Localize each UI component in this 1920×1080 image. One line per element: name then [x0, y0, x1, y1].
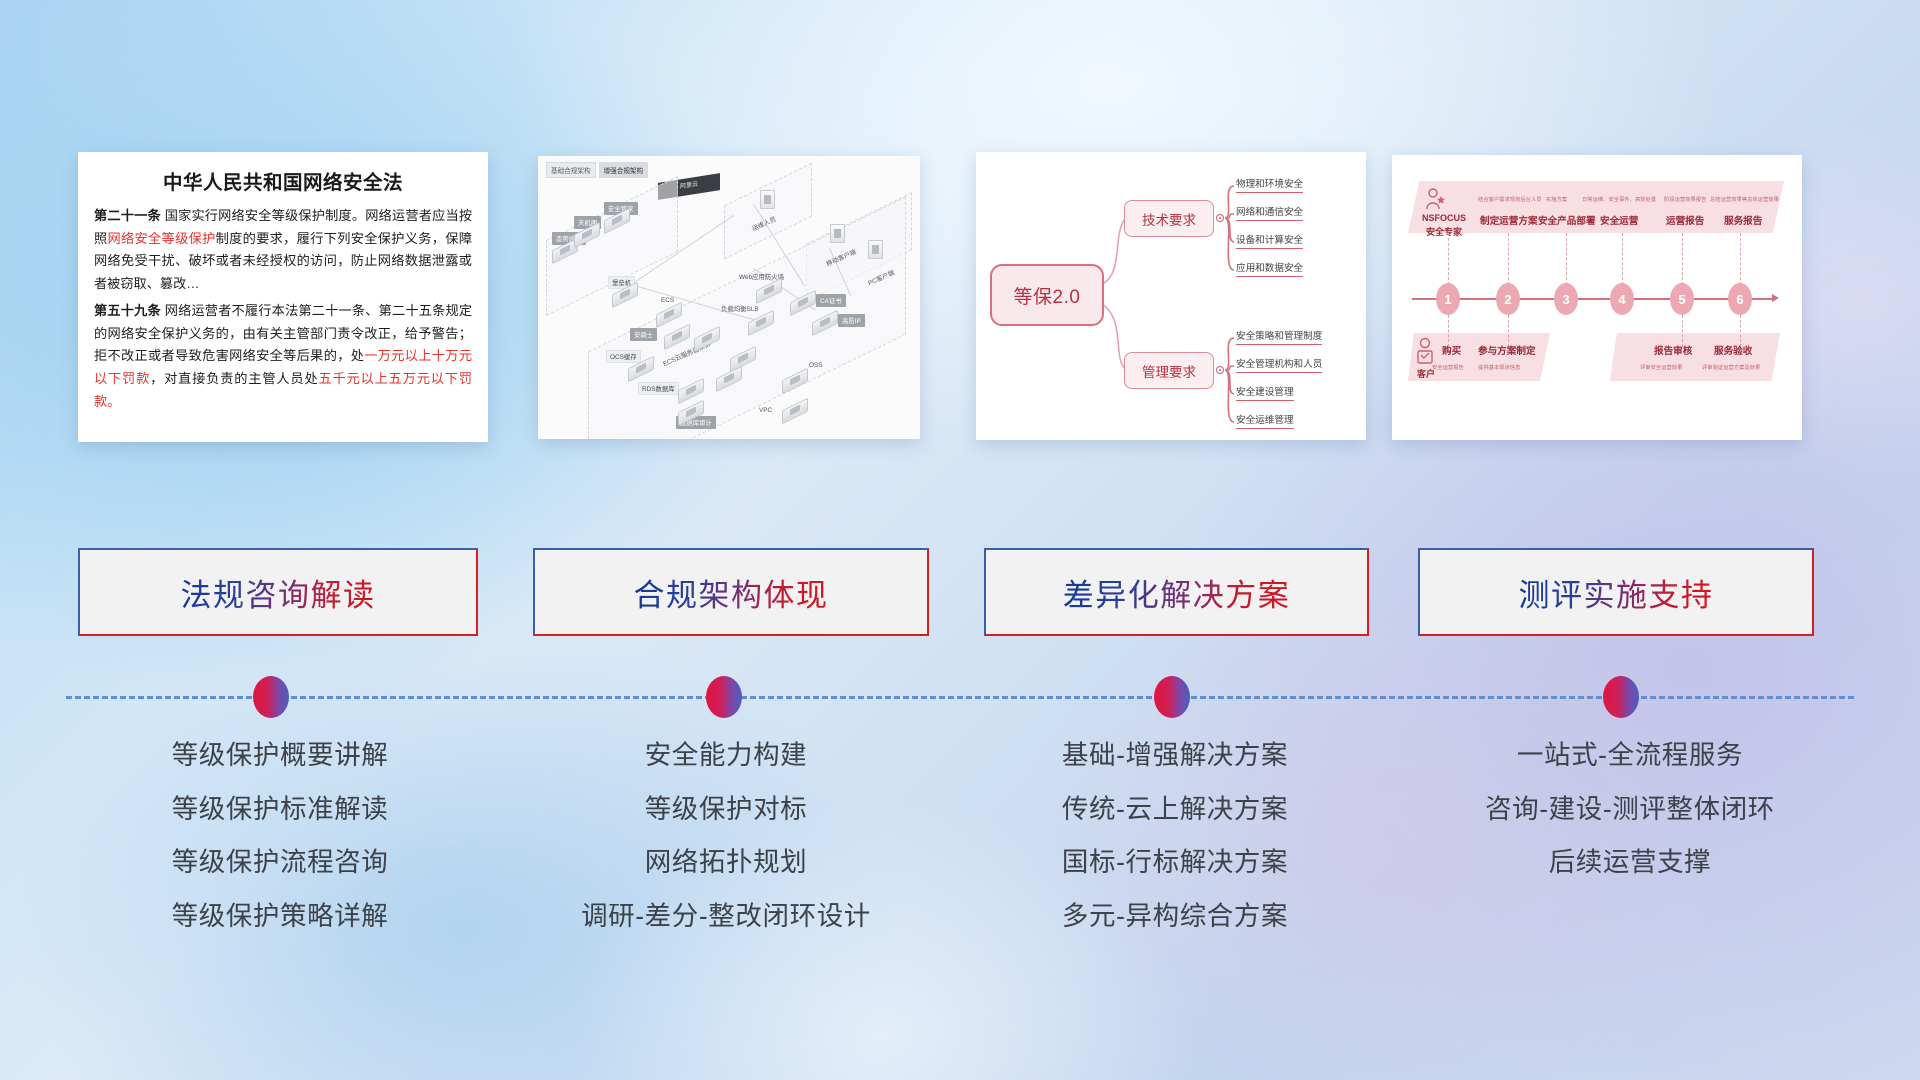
list-item: 安全能力构建: [506, 742, 946, 769]
list-item: 多元-异构综合方案: [950, 903, 1400, 930]
detail-list-compliance-architecture: 安全能力构建 等级保护对标 网络拓扑规划 调研-差分-整改闭环设计: [506, 742, 946, 956]
list-item: 调研-差分-整改闭环设计: [506, 903, 946, 930]
list-item: 后续运营支撑: [1400, 849, 1860, 876]
detail-list-regulation-consulting: 等级保护概要讲解 等级保护标准解读 等级保护流程咨询 等级保护策略详解: [60, 742, 500, 956]
heading-box-regulation-consulting[interactable]: 法规咨询解读: [78, 548, 478, 636]
list-item: 等级保护流程咨询: [60, 849, 500, 876]
detail-list-differentiated-solution: 基础-增强解决方案 传统-云上解决方案 国标-行标解决方案 多元-异构综合方案: [950, 742, 1400, 956]
heading-label: 测评实施支持: [1519, 570, 1714, 615]
list-item: 咨询-建设-测评整体闭环: [1400, 796, 1860, 823]
heading-label: 法规咨询解读: [181, 570, 376, 615]
slide-stage: 中华人民共和国网络安全法 第二十一条 国家实行网络安全等级保护制度。网络运营者应…: [0, 0, 1920, 1080]
list-item: 等级保护对标: [506, 796, 946, 823]
timeline-marker-3[interactable]: [1154, 676, 1190, 718]
detail-list-assessment-support: 一站式-全流程服务 咨询-建设-测评整体闭环 后续运营支撑: [1400, 742, 1860, 903]
heading-label: 差异化解决方案: [1063, 570, 1291, 615]
list-item: 等级保护策略详解: [60, 903, 500, 930]
heading-label: 合规架构体现: [634, 570, 829, 615]
timeline-dashed-line: [66, 696, 1854, 699]
timeline-marker-4[interactable]: [1603, 676, 1639, 718]
heading-box-compliance-architecture[interactable]: 合规架构体现: [533, 548, 929, 636]
heading-box-assessment-support[interactable]: 测评实施支持: [1418, 548, 1814, 636]
list-item: 等级保护概要讲解: [60, 742, 500, 769]
list-item: 等级保护标准解读: [60, 796, 500, 823]
timeline-marker-1[interactable]: [253, 676, 289, 718]
list-item: 网络拓扑规划: [506, 849, 946, 876]
list-item: 国标-行标解决方案: [950, 849, 1400, 876]
heading-box-differentiated-solution[interactable]: 差异化解决方案: [984, 548, 1369, 636]
timeline-marker-2[interactable]: [706, 676, 742, 718]
list-item: 传统-云上解决方案: [950, 796, 1400, 823]
list-item: 基础-增强解决方案: [950, 742, 1400, 769]
list-item: 一站式-全流程服务: [1400, 742, 1860, 769]
